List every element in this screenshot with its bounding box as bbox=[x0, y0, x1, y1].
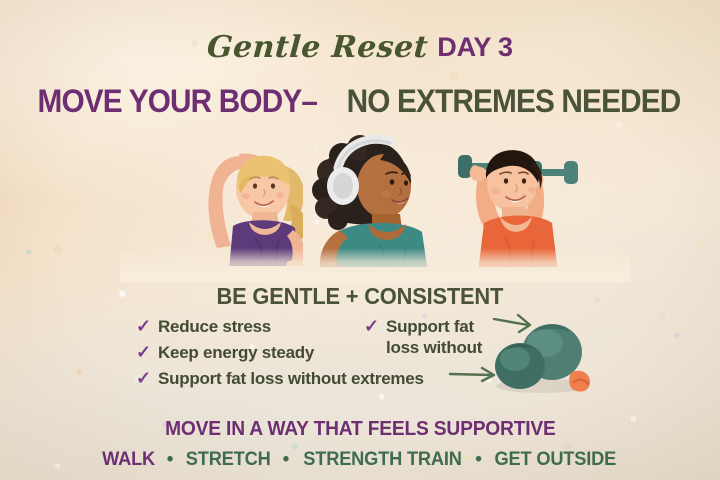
activity-tag-get-outside: GET OUTSIDE bbox=[495, 449, 617, 471]
call-to-action-text: MOVE IN A WAY THAT FEELS SUPPORTIVE bbox=[165, 418, 555, 441]
subheading-text: BE GENTLE + CONSISTENT bbox=[217, 283, 504, 310]
day-badge: DAY 3 bbox=[437, 32, 513, 63]
activity-tag-stretch: STRETCH bbox=[186, 449, 271, 471]
headline-part-green: NO EXTREMES NEEDED bbox=[347, 83, 681, 120]
tag-separator: • bbox=[167, 449, 174, 471]
activity-tag-walk: WALK bbox=[102, 449, 155, 471]
headline-part-purple: MOVE YOUR BODY– bbox=[37, 83, 317, 120]
list-item: ✓ Reduce stress bbox=[136, 316, 314, 337]
list-item-label: Reduce stress bbox=[158, 316, 271, 337]
list-item-label: Support fat loss without bbox=[386, 316, 486, 358]
benefits-right-column: ✓ Support fat loss without bbox=[364, 316, 486, 363]
check-icon: ✓ bbox=[136, 368, 151, 388]
text-layer: Gentle ResetDAY 3 MOVE YOUR BODY–NO EXTR… bbox=[0, 0, 720, 480]
list-item: ✓ Keep energy steady bbox=[136, 342, 314, 363]
poster-canvas: Gentle ResetDAY 3 MOVE YOUR BODY–NO EXTR… bbox=[0, 0, 720, 480]
check-icon: ✓ bbox=[136, 316, 151, 336]
tag-separator: • bbox=[475, 449, 482, 471]
page-title: MOVE YOUR BODY–NO EXTREMES NEEDED bbox=[0, 83, 720, 120]
eyebrow-script-text: Gentle Reset bbox=[206, 30, 430, 65]
tag-separator: • bbox=[283, 449, 290, 471]
check-icon: ✓ bbox=[364, 316, 379, 336]
call-to-action: MOVE IN A WAY THAT FEELS SUPPORTIVE bbox=[0, 418, 720, 441]
eyebrow-line: Gentle ResetDAY 3 bbox=[0, 30, 720, 65]
list-item: ✓ Support fat loss without bbox=[364, 316, 486, 358]
list-item: ✓ Support fat loss without extremes bbox=[136, 368, 424, 389]
list-item-label: Keep energy steady bbox=[158, 342, 314, 363]
list-item-label: Support fat loss without extremes bbox=[158, 368, 424, 389]
check-icon: ✓ bbox=[136, 342, 151, 362]
benefits-left-column: ✓ Reduce stress ✓ Keep energy steady bbox=[136, 316, 314, 368]
activity-tag-strength-train: STRENGTH TRAIN bbox=[303, 449, 461, 471]
subheading: BE GENTLE + CONSISTENT bbox=[0, 283, 720, 310]
activity-tag-list: WALK • STRETCH • STRENGTH TRAIN • GET OU… bbox=[0, 449, 720, 471]
